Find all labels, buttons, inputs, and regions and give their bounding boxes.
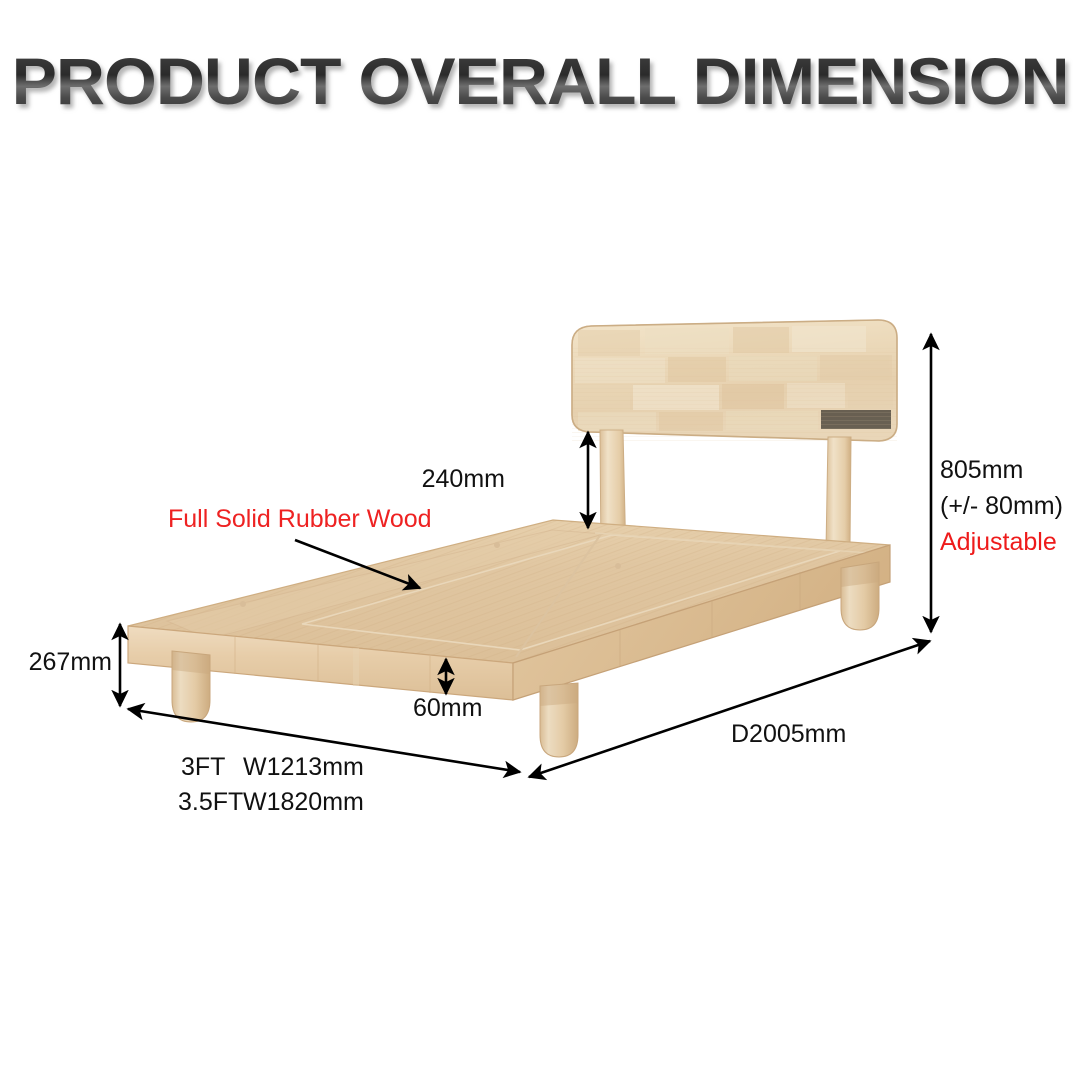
dimension-label-240mm: 240mm (422, 465, 505, 493)
dimension-label-width-35ft-size: 3.5FT (178, 788, 243, 816)
screw-hole (240, 601, 246, 607)
dimension-label-width-35ft: W1820mm (243, 788, 364, 816)
dimension-frame-height: 267mm (29, 624, 120, 706)
dimension-label-depth: D2005mm (731, 720, 846, 748)
dimension-label-width-3ft: W1213mm (243, 753, 364, 781)
leg-top-shade (540, 683, 578, 706)
callout-label-rubber-wood: Full Solid Rubber Wood (168, 505, 432, 533)
dimension-label-267mm: 267mm (29, 648, 112, 676)
platform-group (128, 520, 890, 700)
product-dimension-illustration: 240mm 805mm (+/- 80mm) Adjustable 267mm … (0, 0, 1080, 1080)
dimension-diagram-page: PRODUCT OVERALL DIMENSION (0, 0, 1080, 1080)
dimension-headboard-gap: 240mm (422, 432, 588, 528)
headboard-grain (572, 345, 897, 441)
dimension-label-60mm: 60mm (413, 694, 482, 722)
screw-hole (615, 563, 621, 569)
leg-top-shade (172, 651, 210, 674)
dimension-width: 3FT W1213mm 3.5FT W1820mm (128, 709, 520, 816)
headboard-post-right (826, 437, 851, 549)
dimension-label-adjustable: Adjustable (940, 528, 1057, 556)
dimension-overall-height: 805mm (+/- 80mm) Adjustable (900, 330, 1063, 632)
dimension-label-tolerance: (+/- 80mm) (940, 492, 1063, 520)
dimension-label-width-3ft-size: 3FT (181, 753, 225, 781)
headboard-group (572, 320, 897, 441)
dimension-label-805mm: 805mm (940, 456, 1023, 484)
screw-hole (494, 542, 500, 548)
